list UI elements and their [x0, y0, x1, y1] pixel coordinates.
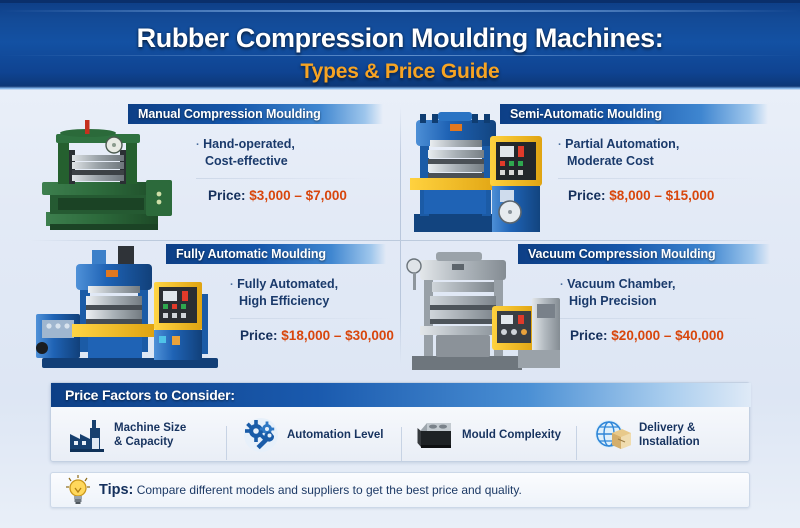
factor-label: Machine Size & Capacity — [114, 421, 186, 449]
feature-line-1: Partial Automation, — [565, 137, 679, 151]
price-value: $20,000 – $40,000 — [611, 328, 724, 343]
globe-box-icon — [592, 418, 632, 452]
card-price: Price: $18,000 – $30,000 — [240, 328, 394, 343]
tips-bar: Tips: Compare different models and suppl… — [50, 472, 750, 508]
factor-delivery-installation[interactable]: Delivery & Installation — [576, 418, 751, 452]
card-features: · Partial Automation, Moderate Cost — [558, 136, 679, 169]
tips-label: Tips: — [99, 482, 133, 498]
header-banner: Rubber Compression Moulding Machines: Ty… — [0, 0, 800, 90]
feature-line-2: High Precision — [560, 293, 676, 309]
card-features: · Vacuum Chamber, High Precision — [560, 276, 676, 309]
price-label: Price: — [240, 328, 278, 343]
price-divider — [230, 318, 390, 319]
header-sheen — [0, 55, 800, 56]
price-label: Price: — [570, 328, 608, 343]
feature-line-2: Cost-effective — [196, 153, 295, 169]
card-price: Price: $20,000 – $40,000 — [570, 328, 724, 343]
factor-label: Automation Level — [287, 428, 383, 442]
tips-body: Compare different models and suppliers t… — [133, 483, 521, 497]
price-factors-list: Machine Size & Capacity — [51, 409, 751, 461]
factor-label: Delivery & Installation — [639, 421, 751, 449]
card-price: Price: $3,000 – $7,000 — [208, 188, 347, 203]
card-fully-automatic-moulding[interactable]: Fully Automatic Moulding · Fully Automat… — [18, 236, 400, 376]
card-price: Price: $8,000 – $15,000 — [568, 188, 714, 203]
card-title: Semi-Automatic Moulding — [500, 104, 768, 124]
factor-mould-complexity[interactable]: Mould Complexity — [401, 419, 576, 451]
feature-line-1: Vacuum Chamber, — [567, 277, 675, 291]
price-divider — [558, 178, 753, 179]
machine-type-grid: Manual Compression Moulding · Hand-opera… — [18, 96, 782, 374]
card-title: Vacuum Compression Moulding — [518, 244, 770, 264]
page-title: Rubber Compression Moulding Machines: — [0, 23, 800, 54]
card-features: · Fully Automated, High Efficiency — [230, 276, 338, 309]
price-factors-title: Price Factors to Consider: — [51, 383, 751, 407]
factor-label-line2: & Capacity — [114, 436, 173, 448]
infographic-page: Rubber Compression Moulding Machines: Ty… — [0, 0, 800, 528]
feature-line-2: High Efficiency — [230, 293, 338, 309]
card-vacuum-compression-moulding[interactable]: Vacuum Compression Moulding · Vacuum Cha… — [400, 236, 782, 376]
gear-wrench-icon — [242, 418, 280, 452]
price-divider — [196, 178, 371, 179]
mould-icon — [417, 419, 455, 451]
price-value: $18,000 – $30,000 — [281, 328, 394, 343]
card-title: Fully Automatic Moulding — [166, 244, 386, 264]
price-factors-panel: Price Factors to Consider: Machine Size … — [50, 382, 750, 462]
feature-line-1: Fully Automated, — [237, 277, 338, 291]
price-label: Price: — [208, 188, 246, 203]
price-value: $3,000 – $7,000 — [249, 188, 347, 203]
semi-automatic-press-machine-icon — [408, 106, 558, 234]
factory-icon — [67, 418, 107, 452]
price-divider — [560, 318, 756, 319]
price-value: $8,000 – $15,000 — [609, 188, 714, 203]
bullet-dot: · — [560, 279, 564, 291]
price-label: Price: — [568, 188, 606, 203]
card-semi-automatic-moulding[interactable]: Semi-Automatic Moulding · Partial Automa… — [400, 98, 782, 238]
card-manual-compression-moulding[interactable]: Manual Compression Moulding · Hand-opera… — [18, 98, 400, 238]
feature-line-2: Moderate Cost — [558, 153, 679, 169]
page-subtitle: Types & Price Guide — [0, 60, 800, 84]
factor-machine-size[interactable]: Machine Size & Capacity — [51, 418, 226, 452]
feature-line-1: Hand-operated, — [203, 137, 295, 151]
lightbulb-icon — [65, 475, 91, 505]
tips-text: Tips: Compare different models and suppl… — [99, 482, 522, 498]
factor-label: Mould Complexity — [462, 428, 561, 442]
bullet-dot: · — [230, 279, 234, 291]
bullet-dot: · — [196, 139, 200, 151]
factor-label-line1: Machine Size — [114, 422, 186, 434]
factor-automation-level[interactable]: Automation Level — [226, 418, 401, 452]
manual-press-machine-icon — [28, 120, 188, 232]
card-features: · Hand-operated, Cost-effective — [196, 136, 295, 169]
bullet-dot: · — [558, 139, 562, 151]
card-title: Manual Compression Moulding — [128, 104, 383, 124]
